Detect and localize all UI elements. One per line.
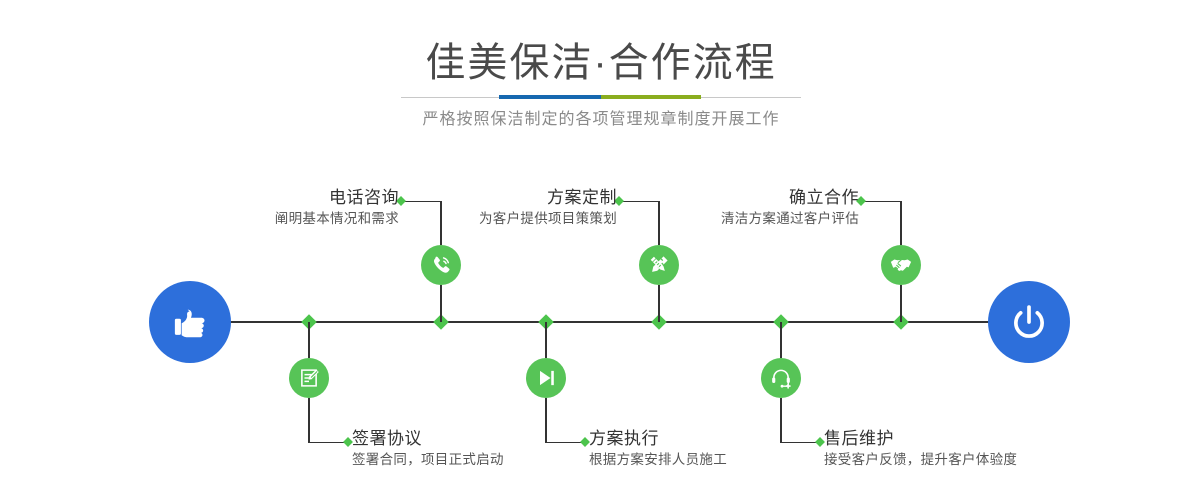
step-node-5[interactable]: [881, 245, 921, 285]
page-title: 佳美保洁·合作流程: [0, 38, 1202, 88]
connector-step-6-horizontal: [780, 442, 818, 443]
handshake-icon: [889, 253, 913, 277]
connector-step-2-lower: [308, 398, 309, 442]
connector-step-6-lower: [780, 398, 781, 442]
step-desc-5: 清洁方案通过客户评估: [620, 209, 859, 229]
connector-step-4-lower: [545, 398, 546, 442]
step-node-3[interactable]: [639, 245, 679, 285]
customer-service-add-icon: [769, 366, 793, 390]
divider-segment-green: [601, 95, 701, 99]
step-desc-3: 为客户提供项目策策划: [380, 209, 617, 229]
connector-step-5-lower: [900, 285, 901, 322]
page-subtitle: 严格按照保洁制定的各项管理规章制度开展工作: [0, 108, 1202, 132]
connector-step-1-lower: [440, 285, 441, 322]
step-label-6: 售后维护 接受客户反馈，提升客户体验度: [824, 428, 1154, 470]
flow-end-node[interactable]: [988, 281, 1070, 363]
step-label-5: 确立合作 清洁方案通过客户评估: [620, 187, 859, 229]
step-title-5: 确立合作: [620, 187, 859, 209]
connector-step-3-lower: [658, 285, 659, 322]
step-desc-1: 阐明基本情况和需求: [150, 209, 399, 229]
step-title-1: 电话咨询: [150, 187, 399, 209]
connector-step-4-horizontal: [545, 442, 583, 443]
connector-step-5-horizontal: [863, 201, 901, 202]
pencil-ruler-icon: [647, 253, 671, 277]
process-flow-infographic: 佳美保洁·合作流程 严格按照保洁制定的各项管理规章制度开展工作: [0, 0, 1202, 502]
connector-step-2-horizontal: [308, 442, 346, 443]
step-label-1: 电话咨询 阐明基本情况和需求: [150, 187, 399, 229]
power-icon: [1008, 301, 1050, 343]
step-node-1[interactable]: [421, 245, 461, 285]
connector-step-5-upper: [900, 201, 901, 245]
step-node-2[interactable]: [289, 358, 329, 398]
flow-start-node[interactable]: [149, 281, 231, 363]
step-title-3: 方案定制: [380, 187, 617, 209]
step-title-6: 售后维护: [824, 428, 1154, 450]
pointing-hand-icon: [168, 300, 212, 344]
step-label-3: 方案定制 为客户提供项目策策划: [380, 187, 617, 229]
connector-step-6-upper: [780, 322, 781, 358]
phone-call-icon: [429, 253, 453, 277]
step-node-6[interactable]: [761, 358, 801, 398]
play-forward-icon: [534, 366, 558, 390]
step-node-4[interactable]: [526, 358, 566, 398]
step-desc-6: 接受客户反馈，提升客户体验度: [824, 450, 1154, 470]
title-divider: [401, 95, 801, 99]
divider-segment-blue: [499, 95, 601, 99]
connector-step-4-upper: [545, 322, 546, 358]
connector-step-2-upper: [308, 322, 309, 358]
document-sign-icon: [297, 366, 321, 390]
